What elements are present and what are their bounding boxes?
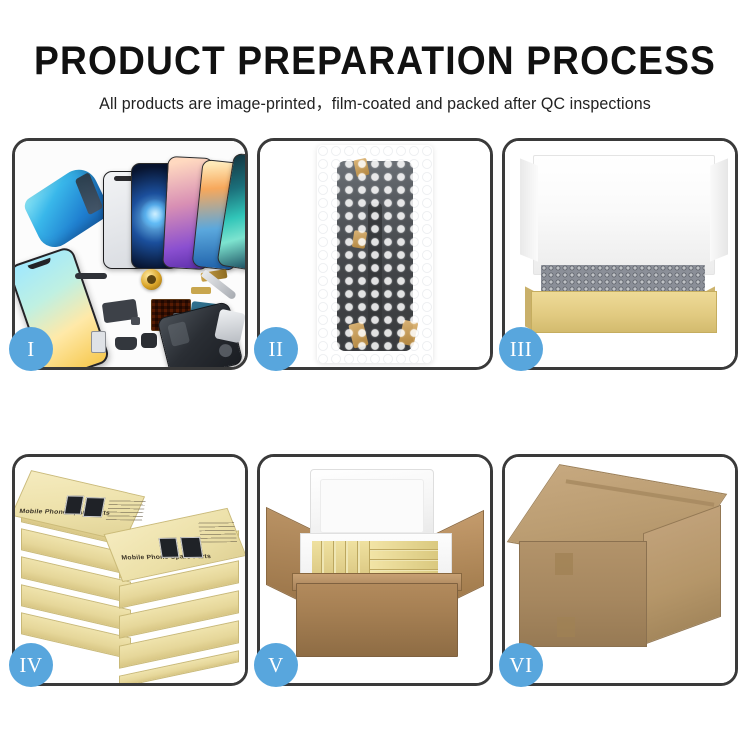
tape-piece — [352, 230, 367, 249]
panel-bubble-wrapped-part: II — [257, 138, 493, 370]
yellow-box-item — [370, 561, 438, 570]
speaker-coil-part — [141, 269, 162, 290]
panel-foam-lined-box: III — [502, 138, 738, 370]
adhesive-film — [22, 161, 112, 255]
box-screen-image — [159, 538, 180, 558]
scene-bubble-wrap — [260, 141, 490, 367]
step-badge-ii: II — [254, 327, 298, 371]
wrapped-screen-assembly — [337, 161, 413, 351]
page-subtitle: All products are image-printed，film-coat… — [11, 84, 739, 114]
bubble-wrap-bag — [317, 145, 433, 363]
camera-module-part — [141, 333, 157, 348]
panel-image-iv: Mobile Phone Spare Parts Mobile Phone Sp… — [15, 457, 245, 683]
scene-foam-box — [505, 141, 735, 367]
phone-screen-fan — [101, 147, 245, 269]
panel-stacked-retail-boxes: Mobile Phone Spare Parts Mobile Phone Sp… — [12, 454, 248, 686]
small-component-part — [131, 317, 140, 325]
carton-flap-tab — [557, 617, 575, 637]
scene-box-stack: Mobile Phone Spare Parts Mobile Phone Sp… — [15, 457, 245, 683]
panel-carton-with-cooler: V — [257, 454, 493, 686]
step-badge-v: V — [254, 643, 298, 687]
step-badge-iv: IV — [9, 643, 53, 687]
panel-image-iii — [505, 141, 735, 367]
panel-sealed-shipping-carton: VI — [502, 454, 738, 686]
scene-spare-parts — [15, 141, 245, 367]
antenna-strip-part — [75, 273, 107, 279]
box-spec-text — [106, 499, 146, 520]
panel-image-v — [260, 457, 490, 683]
panel-image-vi — [505, 457, 735, 683]
carton-body — [296, 583, 458, 657]
sim-tray-part — [91, 331, 106, 353]
box-spec-text — [198, 521, 237, 542]
carton-front-face — [519, 541, 647, 647]
white-foam-lid — [533, 155, 715, 275]
tape-piece — [399, 320, 419, 347]
panel-image-ii — [260, 141, 490, 367]
panel-image-i — [15, 141, 245, 367]
gold-contact-part — [191, 287, 211, 294]
speaker-part — [115, 337, 137, 350]
process-panel-grid: I II — [12, 138, 738, 686]
panel-product-components: I — [12, 138, 248, 370]
repair-tool — [214, 309, 245, 344]
yellow-box-item — [370, 541, 438, 550]
carton-flap-tab — [555, 553, 573, 575]
styrofoam-lid — [310, 469, 434, 543]
page-header: PRODUCT PREPARATION PROCESS All products… — [0, 0, 750, 114]
scene-carton-cooler — [260, 457, 490, 683]
box-screen-image — [64, 496, 84, 515]
box-screen-image — [83, 497, 106, 517]
box-screen-image — [180, 537, 203, 558]
kraft-box-front — [531, 291, 717, 333]
step-badge-iii: III — [499, 327, 543, 371]
step-badge-i: I — [9, 327, 53, 371]
page-title: PRODUCT PREPARATION PROCESS — [26, 0, 724, 84]
step-badge-vi: VI — [499, 643, 543, 687]
yellow-box-item — [370, 551, 438, 560]
scene-sealed-carton — [505, 457, 735, 683]
